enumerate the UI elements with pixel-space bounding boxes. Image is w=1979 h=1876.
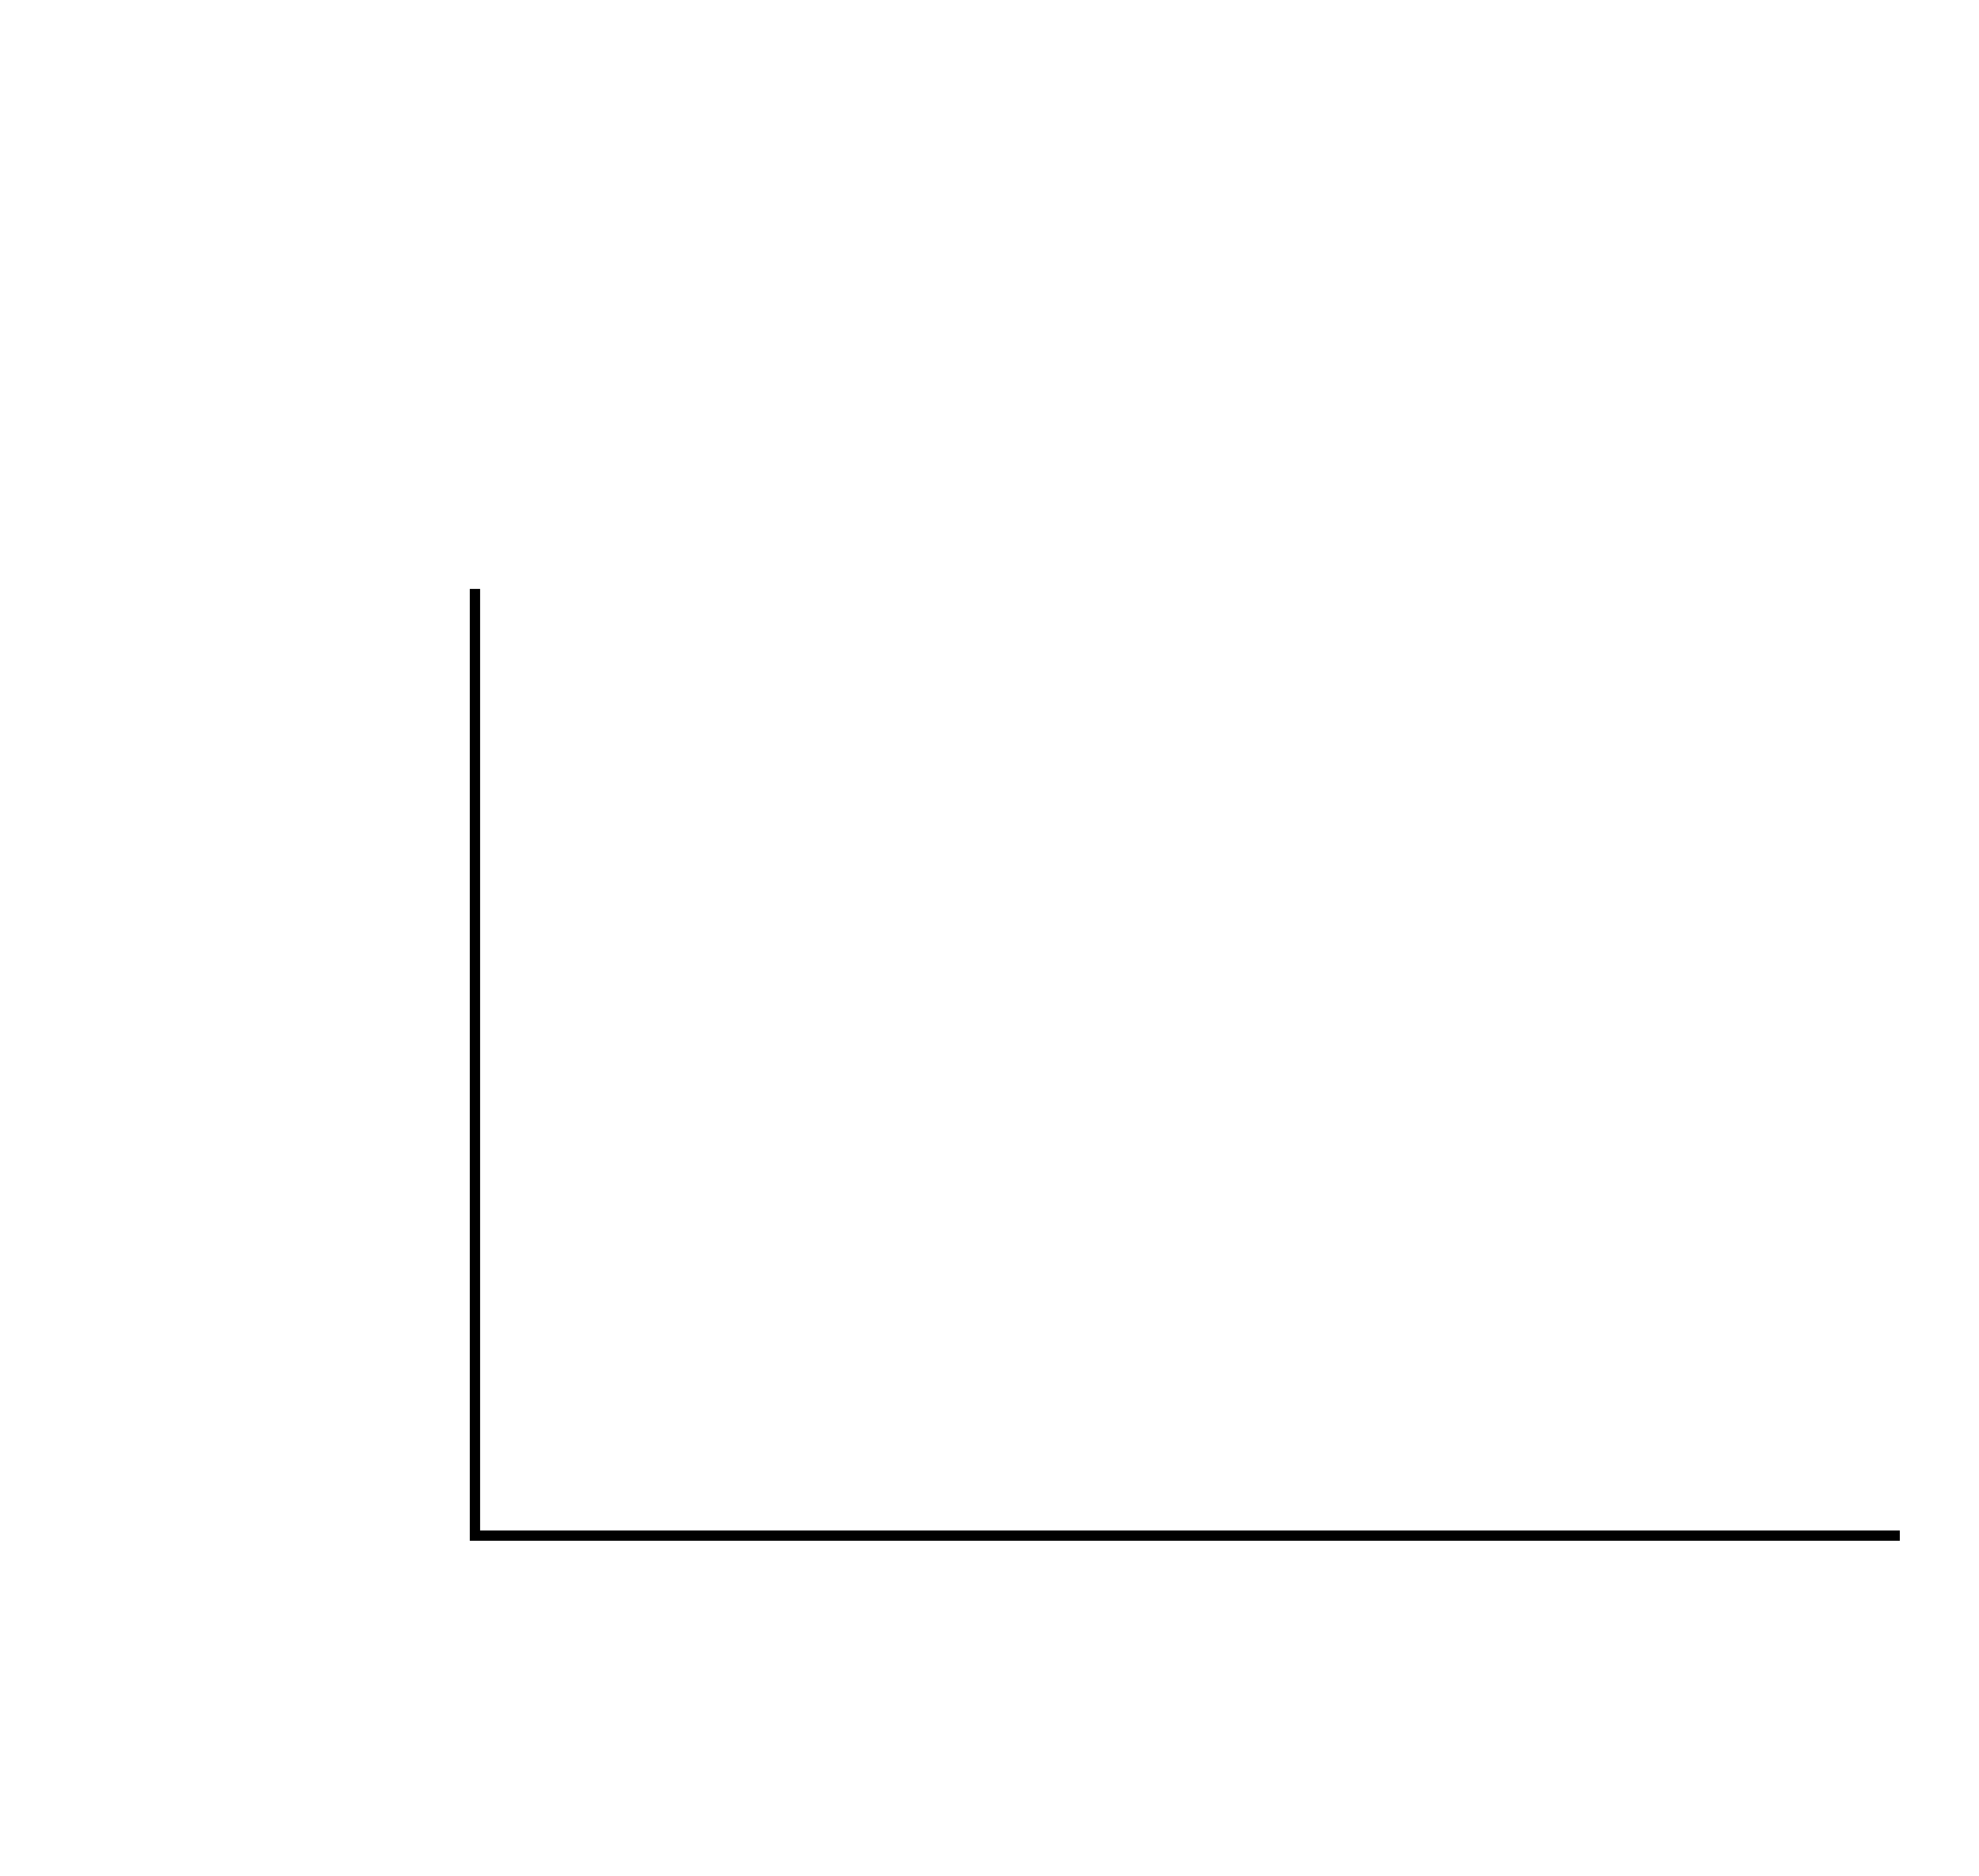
legend-item-nfat-luc-jurkat[interactable] bbox=[566, 317, 1979, 396]
legend-item-tcrab-ko[interactable] bbox=[566, 396, 1979, 475]
chart-svg bbox=[0, 554, 1979, 1876]
chart-legend bbox=[566, 317, 1979, 475]
chart-page bbox=[0, 0, 1979, 1876]
legend-marker-circle-icon bbox=[566, 327, 665, 386]
circle-marker-icon bbox=[596, 337, 634, 375]
plot-area bbox=[0, 554, 1979, 1876]
legend-marker-triangle-icon bbox=[566, 406, 665, 465]
legend-line-segment bbox=[566, 430, 665, 441]
